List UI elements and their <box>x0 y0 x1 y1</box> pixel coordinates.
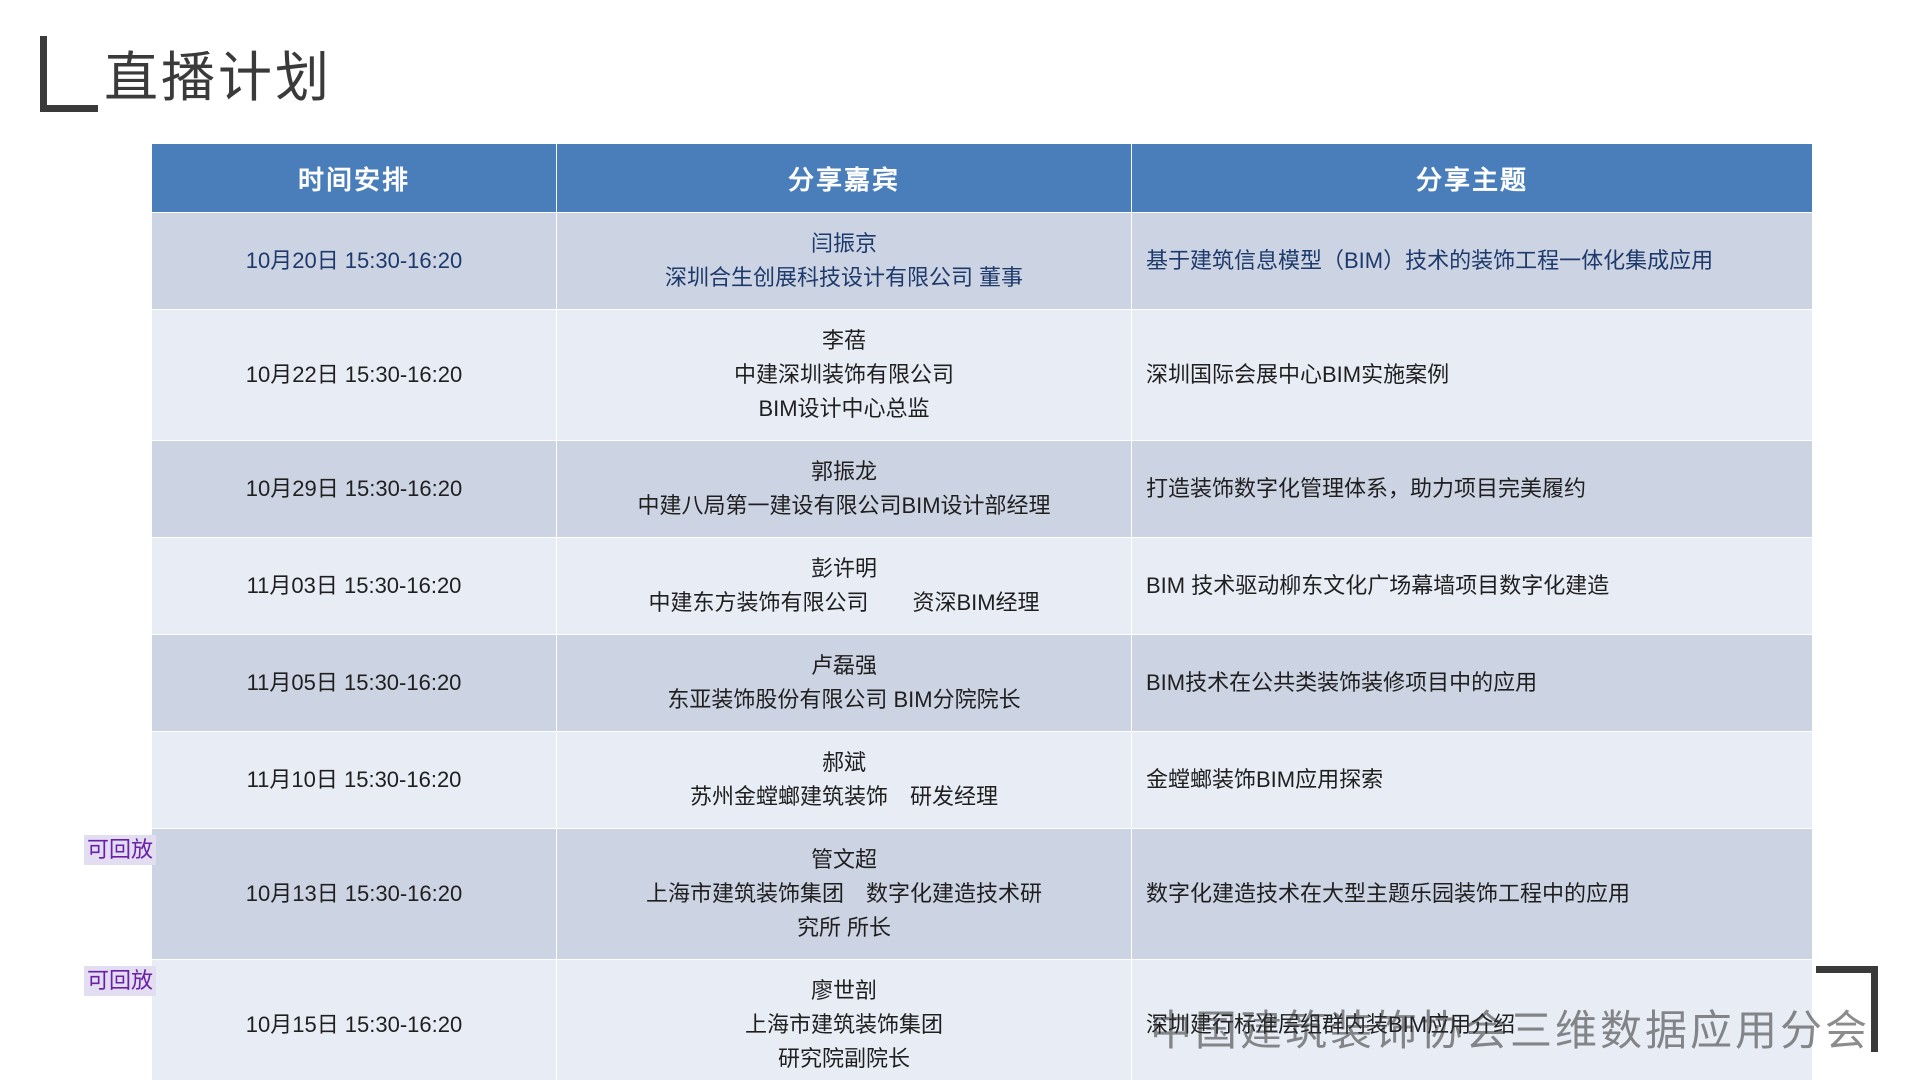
cell-guest: 卢磊强东亚装饰股份有限公司 BIM分院院长 <box>557 635 1132 731</box>
guest-affiliation: 中建东方装饰有限公司 资深BIM经理 <box>571 586 1117 620</box>
guest-affiliation: 东亚装饰股份有限公司 BIM分院院长 <box>571 683 1117 717</box>
guest-name: 闫振京 <box>571 227 1117 261</box>
guest-affiliation-2: 究所 所长 <box>571 911 1117 945</box>
table-row: 11月10日 15:30-16:20郝斌苏州金螳螂建筑装饰 研发经理金螳螂装饰B… <box>152 732 1812 828</box>
table-row: 11月03日 15:30-16:20彭许明中建东方装饰有限公司 资深BIM经理B… <box>152 538 1812 634</box>
replay-badge: 可回放 <box>84 966 156 996</box>
cell-topic: 金螳螂装饰BIM应用探索 <box>1132 732 1812 828</box>
cell-topic: 深圳国际会展中心BIM实施案例 <box>1132 310 1812 440</box>
corner-bracket-icon <box>40 36 98 112</box>
column-header-topic: 分享主题 <box>1132 144 1812 212</box>
guest-name: 廖世剖 <box>571 974 1117 1008</box>
guest-affiliation: 上海市建筑装饰集团 数字化建造技术研 <box>571 877 1117 911</box>
cell-guest: 李蓓中建深圳装饰有限公司BIM设计中心总监 <box>557 310 1132 440</box>
cell-topic: BIM技术在公共类装饰装修项目中的应用 <box>1132 635 1812 731</box>
cell-guest: 闫振京深圳合生创展科技设计有限公司 董事 <box>557 213 1132 309</box>
guest-affiliation: 苏州金螳螂建筑装饰 研发经理 <box>571 780 1117 814</box>
cell-topic: 数字化建造技术在大型主题乐园装饰工程中的应用 <box>1132 829 1812 959</box>
guest-name: 管文超 <box>571 843 1117 877</box>
page-title-group: 直播计划 <box>40 36 332 112</box>
table-row: 10月22日 15:30-16:20李蓓中建深圳装饰有限公司BIM设计中心总监深… <box>152 310 1812 440</box>
guest-affiliation: 中建八局第一建设有限公司BIM设计部经理 <box>571 489 1117 523</box>
cell-guest: 郝斌苏州金螳螂建筑装饰 研发经理 <box>557 732 1132 828</box>
slide-root: 直播计划 时间安排 分享嘉宾 分享主题 10月20日 15:30-16:20闫振… <box>0 0 1920 1080</box>
cell-time: 10月29日 15:30-16:20 <box>152 441 557 537</box>
cell-time: 10月13日 15:30-16:20可回放 <box>152 829 557 959</box>
guest-name: 郝斌 <box>571 746 1117 780</box>
cell-guest: 管文超上海市建筑装饰集团 数字化建造技术研究所 所长 <box>557 829 1132 959</box>
guest-name: 卢磊强 <box>571 649 1117 683</box>
table-row: 10月13日 15:30-16:20可回放管文超上海市建筑装饰集团 数字化建造技… <box>152 829 1812 959</box>
replay-badge: 可回放 <box>84 835 156 865</box>
guest-affiliation-2: 研究院副院长 <box>571 1042 1117 1076</box>
guest-affiliation: 中建深圳装饰有限公司 <box>571 358 1117 392</box>
cell-time: 11月05日 15:30-16:20 <box>152 635 557 731</box>
cell-topic: BIM 技术驱动柳东文化广场幕墙项目数字化建造 <box>1132 538 1812 634</box>
table-header-row: 时间安排 分享嘉宾 分享主题 <box>152 144 1812 212</box>
column-header-guest: 分享嘉宾 <box>557 144 1132 212</box>
cell-time: 11月10日 15:30-16:20 <box>152 732 557 828</box>
table-row: 11月05日 15:30-16:20卢磊强东亚装饰股份有限公司 BIM分院院长B… <box>152 635 1812 731</box>
cell-time: 10月20日 15:30-16:20 <box>152 213 557 309</box>
cell-time: 10月22日 15:30-16:20 <box>152 310 557 440</box>
schedule-table-container: 时间安排 分享嘉宾 分享主题 10月20日 15:30-16:20闫振京深圳合生… <box>152 143 1812 1080</box>
cell-guest: 廖世剖上海市建筑装饰集团研究院副院长 <box>557 960 1132 1080</box>
cell-topic: 打造装饰数字化管理体系，助力项目完美履约 <box>1132 441 1812 537</box>
guest-name: 李蓓 <box>571 324 1117 358</box>
table-row: 10月20日 15:30-16:20闫振京深圳合生创展科技设计有限公司 董事基于… <box>152 213 1812 309</box>
page-title: 直播计划 <box>104 48 332 112</box>
guest-name: 彭许明 <box>571 552 1117 586</box>
guest-affiliation: 深圳合生创展科技设计有限公司 董事 <box>571 261 1117 295</box>
cell-time: 11月03日 15:30-16:20 <box>152 538 557 634</box>
column-header-time: 时间安排 <box>152 144 557 212</box>
footer-watermark: 中国建筑装饰协会三维数据应用分会 <box>1150 997 1870 1058</box>
guest-name: 郭振龙 <box>571 455 1117 489</box>
table-header: 时间安排 分享嘉宾 分享主题 <box>152 144 1812 212</box>
cell-time: 10月15日 15:30-16:20可回放 <box>152 960 557 1080</box>
guest-affiliation-2: BIM设计中心总监 <box>571 392 1117 426</box>
guest-affiliation: 上海市建筑装饰集团 <box>571 1008 1117 1042</box>
cell-guest: 彭许明中建东方装饰有限公司 资深BIM经理 <box>557 538 1132 634</box>
table-body: 10月20日 15:30-16:20闫振京深圳合生创展科技设计有限公司 董事基于… <box>152 213 1812 1080</box>
schedule-table: 时间安排 分享嘉宾 分享主题 10月20日 15:30-16:20闫振京深圳合生… <box>152 143 1812 1080</box>
cell-guest: 郭振龙中建八局第一建设有限公司BIM设计部经理 <box>557 441 1132 537</box>
cell-topic: 基于建筑信息模型（BIM）技术的装饰工程一体化集成应用 <box>1132 213 1812 309</box>
table-row: 10月29日 15:30-16:20郭振龙中建八局第一建设有限公司BIM设计部经… <box>152 441 1812 537</box>
